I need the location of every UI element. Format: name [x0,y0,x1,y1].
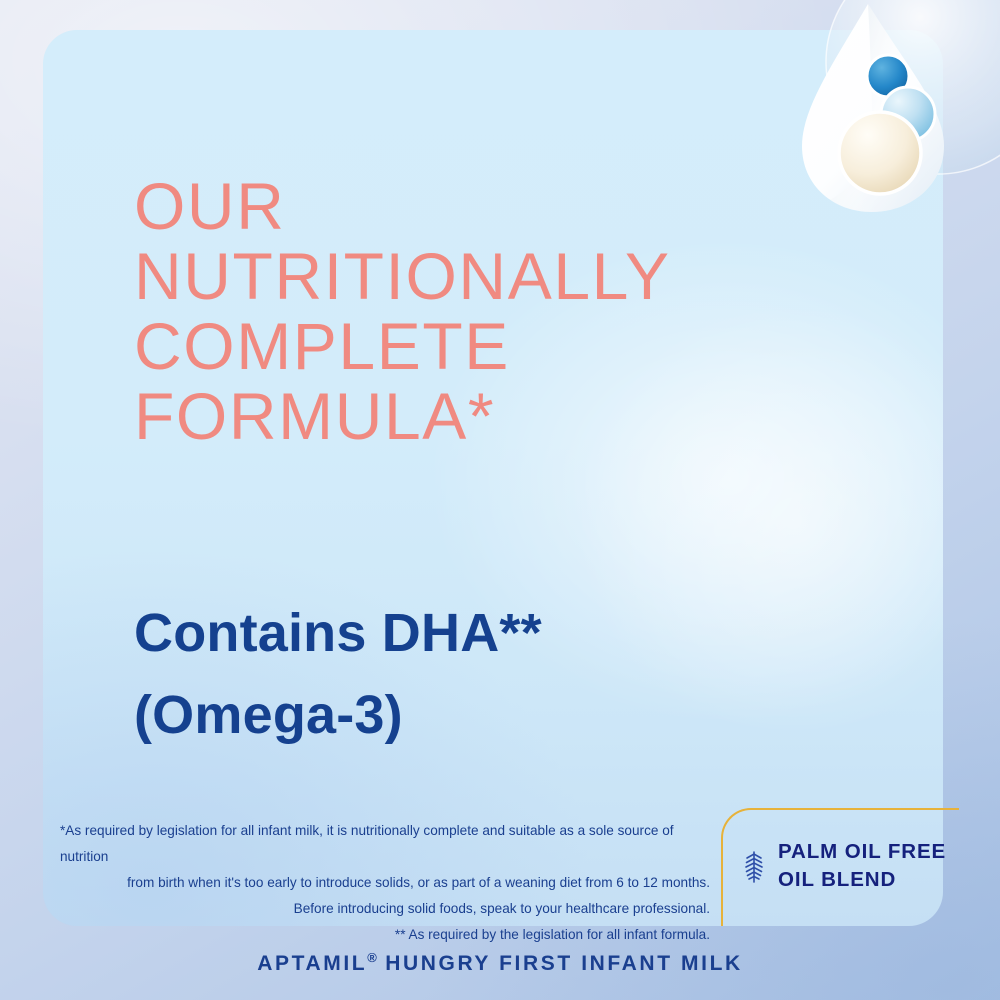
content-card [43,30,943,926]
palm-oil-free-badge-text: PALM OIL FREE OIL BLEND [778,838,946,893]
brand-name: APTAMIL [257,952,367,975]
footnote-line-3: Before introducing solid foods, speak to… [60,896,710,922]
headline-line-3: COMPLETE [134,312,894,382]
subheadline-line-1: Contains DHA** [134,592,874,674]
product-caption: APTAMIL® HUNGRY FIRST INFANT MILK [257,950,743,976]
footnote-line-2: from birth when it's too early to introd… [60,870,710,896]
headline-line-4: FORMULA* [134,382,894,452]
bottom-caption-bar: APTAMIL® HUNGRY FIRST INFANT MILK [0,926,1000,1000]
leaf-icon [743,849,765,883]
headline-line-1: OUR [134,172,894,242]
product-descriptor: HUNGRY FIRST INFANT MILK [377,952,743,975]
palm-oil-free-badge: PALM OIL FREE OIL BLEND [743,838,946,893]
badge-line-2: OIL BLEND [778,866,946,894]
headline-line-2: NUTRITIONALLY [134,242,894,312]
footnote-line-1: *As required by legislation for all infa… [60,818,710,870]
subheadline: Contains DHA** (Omega-3) [134,592,874,756]
registered-mark-icon: ® [367,950,377,965]
badge-line-1: PALM OIL FREE [778,838,946,866]
subheadline-line-2: (Omega-3) [134,674,874,756]
poster-canvas: OUR NUTRITIONALLY COMPLETE FORMULA* Cont… [0,0,1000,1000]
headline: OUR NUTRITIONALLY COMPLETE FORMULA* [134,172,894,452]
